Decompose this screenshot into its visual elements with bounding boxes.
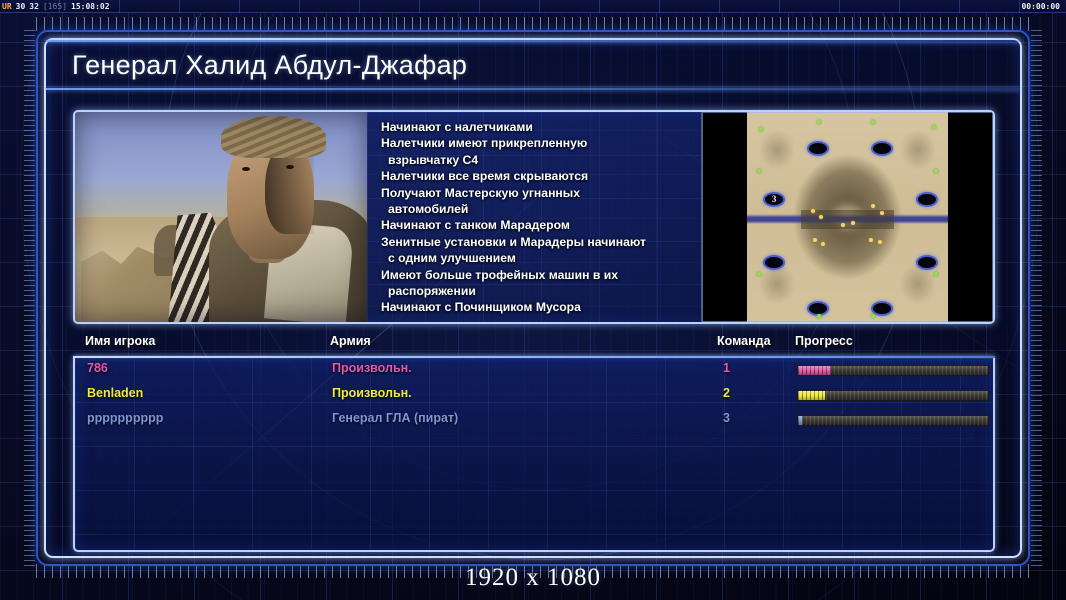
player-list-panel: Имя игрока Армия Команда Прогресс 786Про… xyxy=(73,334,995,552)
player-progress-bar xyxy=(797,390,989,401)
status-value-30: 30 xyxy=(14,2,28,11)
player-army: Генерал ГЛА (пират) xyxy=(332,411,458,425)
ruler-left xyxy=(24,30,35,566)
player-army: Произвольн. xyxy=(332,386,412,400)
map-resource-dot xyxy=(934,169,938,173)
ruler-top xyxy=(36,17,1030,31)
ability-line: с одним улучшением xyxy=(381,250,695,266)
page-title: Генерал Халид Абдул-Джафар xyxy=(72,50,467,81)
player-list-header: Имя игрока Армия Команда Прогресс xyxy=(73,334,995,356)
table-row[interactable]: ppppppppppГенерал ГЛА (пират)3 xyxy=(75,408,993,433)
column-header-team: Команда xyxy=(717,334,771,348)
ability-line: Зенитные установки и Марадеры начинают xyxy=(381,234,695,250)
map-start-position[interactable] xyxy=(763,255,785,270)
ability-line: Налетчики все время скрываются xyxy=(381,168,695,184)
ability-line: Начинают с налетчиками xyxy=(381,119,695,135)
ability-line: Имеют больше трофейных машин в их xyxy=(381,267,695,283)
map-start-position[interactable]: 3 xyxy=(763,192,785,207)
map-letterbox-right xyxy=(948,112,993,322)
map-resource-dot xyxy=(759,127,763,131)
table-row[interactable]: BenladenПроизвольн.2 xyxy=(75,383,993,408)
map-resource-dot xyxy=(817,314,821,318)
general-info-panel: Начинают с налетчикамиНалетчики имеют пр… xyxy=(73,110,995,324)
resolution-label: 1920 x 1080 xyxy=(0,564,1066,592)
ruler-right xyxy=(1031,30,1042,566)
ability-line: Начинают с Починщиком Мусора xyxy=(381,299,695,315)
status-tag-ur: UR xyxy=(0,2,14,11)
player-progress-bar xyxy=(797,365,989,376)
map-resource-dot xyxy=(880,211,884,215)
general-abilities-list: Начинают с налетчикамиНалетчики имеют пр… xyxy=(367,112,701,322)
title-rule-top xyxy=(46,40,1020,42)
player-list-body: 786Произвольн.1BenladenПроизвольн.2ppppp… xyxy=(73,358,995,552)
player-team: 3 xyxy=(723,411,730,425)
title-rule-bottom xyxy=(46,88,1020,90)
ability-line: Получают Мастерскую угнанных xyxy=(381,185,695,201)
player-name: 786 xyxy=(87,361,108,375)
status-bar: UR 30 32 [165] 15:08:02 00:00:00 xyxy=(0,0,1066,13)
player-name: Benladen xyxy=(87,386,143,400)
map-letterbox-left xyxy=(702,112,747,322)
general-portrait xyxy=(75,112,367,322)
column-header-army: Армия xyxy=(330,334,371,348)
status-clock: 15:08:02 xyxy=(69,2,112,11)
player-progress-fill xyxy=(798,366,830,375)
ability-line: Начинают с танком Марадером xyxy=(381,217,695,233)
ability-line: взрывчатку C4 xyxy=(381,152,695,168)
player-army: Произвольн. xyxy=(332,361,412,375)
map-resource-dot xyxy=(757,169,761,173)
ability-line: автомобилей xyxy=(381,201,695,217)
column-header-progress: Прогресс xyxy=(795,334,853,348)
game-lobby-screen: UR 30 32 [165] 15:08:02 00:00:00 Генерал… xyxy=(0,0,1066,600)
ability-line: Налетчики имеют прикрепленную xyxy=(381,135,695,151)
ability-line: распоряжении xyxy=(381,283,695,299)
portrait-vignette xyxy=(75,112,367,322)
title-bar: Генерал Халид Абдул-Джафар xyxy=(46,40,1020,90)
map-start-position[interactable] xyxy=(916,192,938,207)
status-bracket-value: [165] xyxy=(41,2,69,11)
player-team: 1 xyxy=(723,361,730,375)
column-header-player-name: Имя игрока xyxy=(85,334,155,348)
map-resource-dot xyxy=(811,209,815,213)
status-bar-cells xyxy=(0,0,1066,13)
player-progress-bar xyxy=(797,415,989,426)
player-team: 2 xyxy=(723,386,730,400)
player-progress-fill xyxy=(798,391,825,400)
map-start-position[interactable] xyxy=(916,255,938,270)
player-progress-fill xyxy=(798,416,802,425)
map-river xyxy=(747,214,948,225)
map-preview: 3 xyxy=(701,112,993,322)
map-resource-dot xyxy=(934,272,938,276)
status-value-32: 32 xyxy=(27,2,41,11)
match-timer: 00:00:00 xyxy=(1021,2,1066,11)
table-row[interactable]: 786Произвольн.1 xyxy=(75,358,993,383)
map-resource-dot xyxy=(932,125,936,129)
map-resource-dot xyxy=(878,240,882,244)
map-resource-dot xyxy=(757,272,761,276)
player-name: pppppppppp xyxy=(87,411,163,425)
